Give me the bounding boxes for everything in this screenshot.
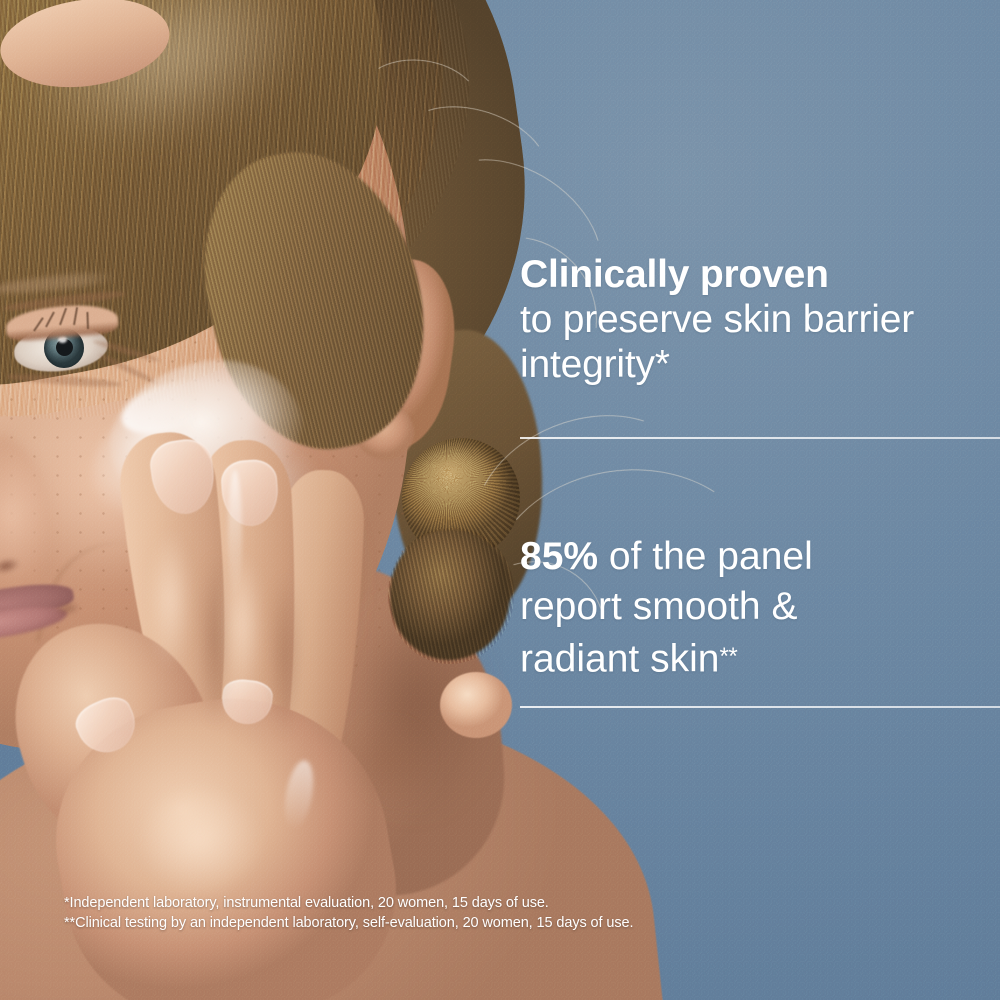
stat-line-1-rest: of the panel: [598, 535, 813, 578]
footnote-1: *Independent laboratory, instrumental ev…: [64, 893, 633, 913]
headline-line-3: integrity: [520, 343, 655, 386]
stat-line-3: radiant skin: [520, 637, 719, 680]
footnote-2: **Clinical testing by an independent lab…: [64, 913, 633, 933]
divider-lower: [520, 706, 1000, 708]
headline-lead: Clinically proven: [520, 253, 829, 296]
model-photograph: [0, 0, 1000, 1000]
advertisement-banner: Clinically proven to preserve skin barri…: [0, 0, 1000, 1000]
headline-text: Clinically proven to preserve skin barri…: [520, 252, 980, 387]
footnotes-block: *Independent laboratory, instrumental ev…: [64, 893, 633, 933]
headline-block: Clinically proven to preserve skin barri…: [520, 252, 980, 387]
stat-footnote-marker: **: [719, 643, 737, 670]
headline-line-2: to preserve skin barrier: [520, 298, 914, 341]
stat-percent: 85%: [520, 535, 598, 578]
skin-grain-texture: [0, 0, 1000, 1000]
stat-line-2: report smooth &: [520, 585, 797, 628]
stat-block: 85% of the panel report smooth & radiant…: [520, 532, 990, 684]
divider-upper: [520, 437, 1000, 439]
headline-footnote-marker: *: [655, 343, 670, 386]
